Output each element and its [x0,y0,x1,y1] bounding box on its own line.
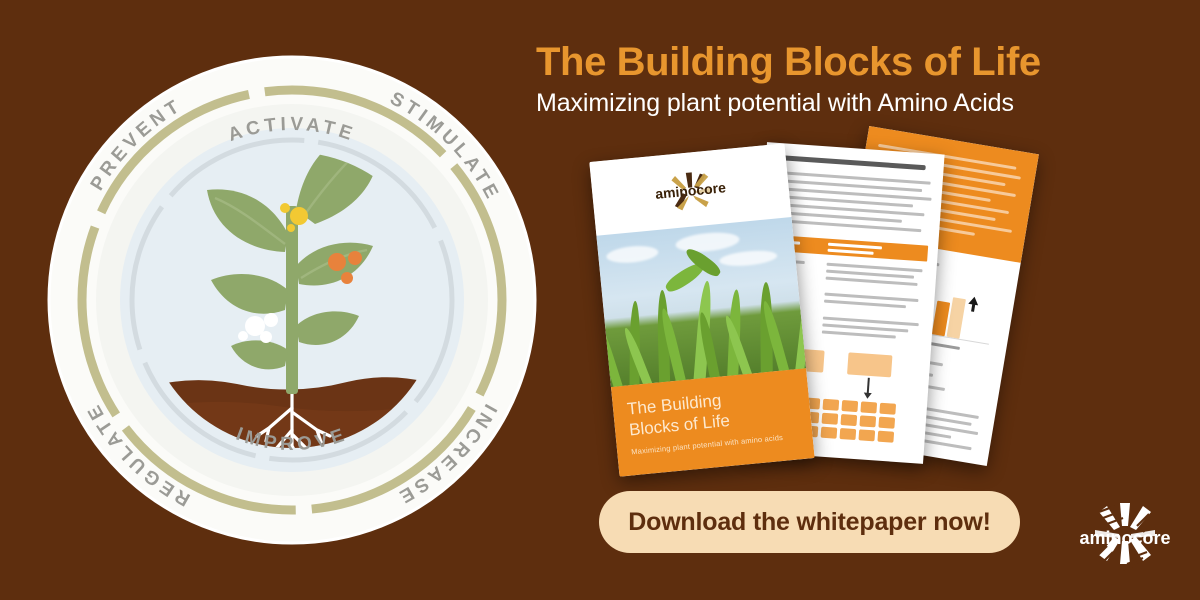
whitepaper-cover[interactable]: aminocore [589,143,814,476]
whitepaper-preview-stack: aminocore [580,130,1060,480]
cover-photo [596,217,806,387]
promo-banner: ACTIVATE STIMULATE INCREASE IMPROVE REGU… [0,0,1200,600]
cover-title: The Building Blocks of Life [626,384,789,441]
brand-logo-text: aminocore [1079,528,1170,548]
headline-block: The Building Blocks of Life Maximizing p… [536,40,1136,118]
cover-logo-text: aminocore [654,179,726,202]
page-subtitle: Maximizing plant potential with Amino Ac… [536,89,1136,118]
aminocore-brand-logo-icon: aminocore [1063,500,1187,578]
cover-title-band: The Building Blocks of Life Maximizing p… [611,368,815,476]
download-whitepaper-button[interactable]: Download the whitepaper now! [599,491,1020,553]
amino-acid-benefits-wheel: ACTIVATE STIMULATE INCREASE IMPROVE REGU… [47,38,537,563]
page-title: The Building Blocks of Life [536,40,1136,85]
